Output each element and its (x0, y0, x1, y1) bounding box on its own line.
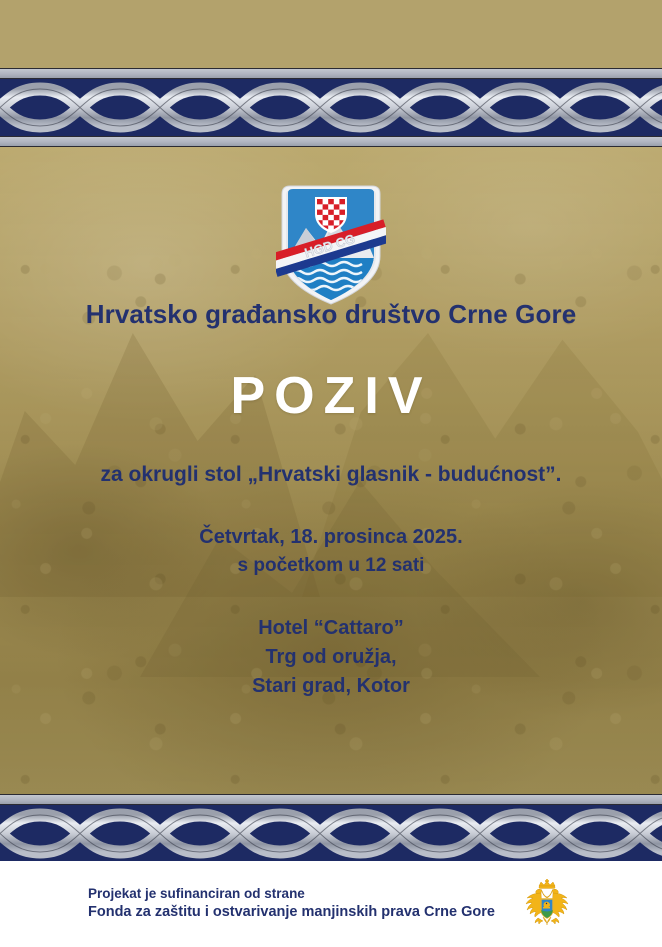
invitation-poster: HGD CG Hrvatsko građansko društvo Crne G… (0, 0, 662, 947)
hgd-cg-logo-icon: HGD CG (276, 184, 386, 306)
braid-core-top (0, 79, 662, 136)
hgd-cg-shield-logo: HGD CG (276, 184, 386, 306)
montenegro-coat-of-arms-icon (520, 877, 574, 931)
braid-core-bottom (0, 805, 662, 862)
page-title: POZIV (0, 370, 662, 422)
braid-edge-top-2 (0, 794, 662, 805)
braid-edge-bottom (0, 136, 662, 147)
organization-name: Hrvatsko građansko društvo Crne Gore (0, 300, 662, 330)
event-subtitle: za okrugli stol „Hrvatski glasnik - budu… (0, 462, 662, 487)
event-datetime: Četvrtak, 18. prosinca 2025. s početkom … (0, 523, 662, 580)
venue-street: Trg od oružja, (0, 643, 662, 672)
pleter-braid-ornament-top (0, 68, 662, 147)
braid-pattern-svg-bottom (0, 805, 662, 862)
event-date: Četvrtak, 18. prosinca 2025. (0, 523, 662, 552)
montenegro-eagle-svg (520, 877, 574, 931)
venue-city: Stari grad, Kotor (0, 672, 662, 701)
footer: Projekat je sufinanciran od strane Fonda… (0, 861, 662, 947)
funding-statement: Projekat je sufinanciran od strane Fonda… (88, 885, 495, 923)
braid-edge-top (0, 68, 662, 79)
venue-name: Hotel “Cattaro” (0, 614, 662, 643)
event-time: s početkom u 12 sati (0, 552, 662, 580)
poster-content: Hrvatsko građansko društvo Crne Gore POZ… (0, 300, 662, 701)
event-venue: Hotel “Cattaro” Trg od oružja, Stari gra… (0, 614, 662, 701)
funding-line-1: Projekat je sufinanciran od strane (88, 885, 495, 903)
braid-pattern-svg-top (0, 79, 662, 136)
top-gold-band (0, 0, 662, 68)
funding-line-2: Fonda za zaštitu i ostvarivanje manjinsk… (88, 903, 495, 923)
